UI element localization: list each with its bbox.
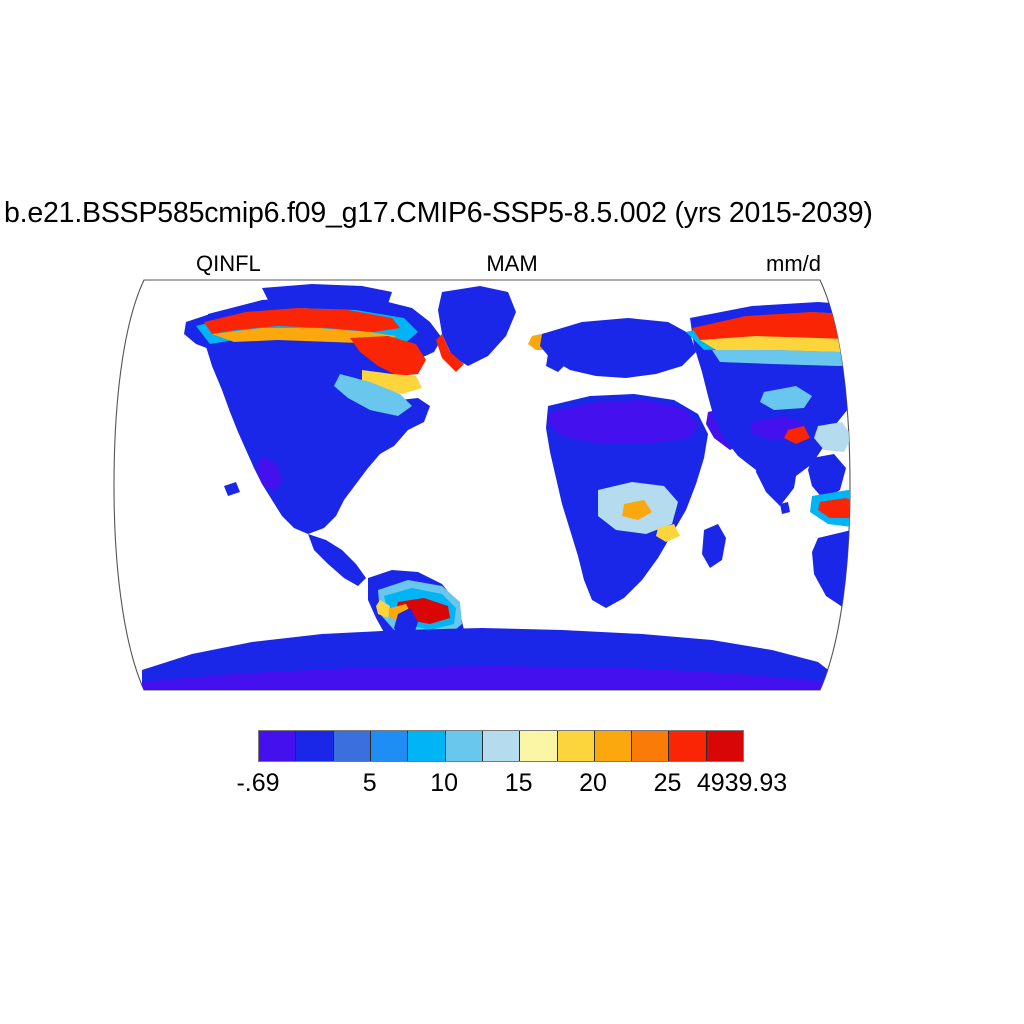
colorbar-cell-9[interactable] [595, 731, 632, 761]
colorbar-tick-4: 20 [579, 768, 607, 798]
units-label: mm/d [766, 251, 821, 277]
colorbar-cell-8[interactable] [558, 731, 595, 761]
season-label: MAM [0, 251, 1024, 277]
colorbar-cell-3[interactable] [371, 731, 408, 761]
colorbar-cell-0[interactable] [259, 731, 296, 761]
colorbar-cell-10[interactable] [632, 731, 669, 761]
colorbar-tick-2: 10 [430, 768, 458, 798]
page-title: b.e21.BSSP585cmip6.f09_g17.CMIP6-SSP5-8.… [4, 196, 1020, 230]
colorbar-cell-7[interactable] [520, 731, 557, 761]
colorbar-tick-0: -.69 [236, 768, 279, 798]
colorbar-cell-4[interactable] [408, 731, 445, 761]
map-canvas [112, 278, 852, 694]
colorbar-tick-labels: -.695101520254939.93 [0, 768, 1024, 800]
colorbar[interactable] [258, 730, 744, 762]
colorbar-tick-3: 15 [505, 768, 533, 798]
colorbar-cell-11[interactable] [669, 731, 706, 761]
world-map [112, 278, 852, 694]
colorbar-cell-1[interactable] [296, 731, 333, 761]
colorbar-tick-5: 25 [654, 768, 682, 798]
colorbar-tick-1: 5 [363, 768, 377, 798]
colorbar-cell-12[interactable] [707, 731, 743, 761]
colorbar-tick-6: 4939.93 [697, 768, 787, 798]
colorbar-cell-6[interactable] [483, 731, 520, 761]
climate-map-figure: b.e21.BSSP585cmip6.f09_g17.CMIP6-SSP5-8.… [0, 0, 1024, 1024]
colorbar-cell-2[interactable] [334, 731, 371, 761]
colorbar-cell-5[interactable] [446, 731, 483, 761]
